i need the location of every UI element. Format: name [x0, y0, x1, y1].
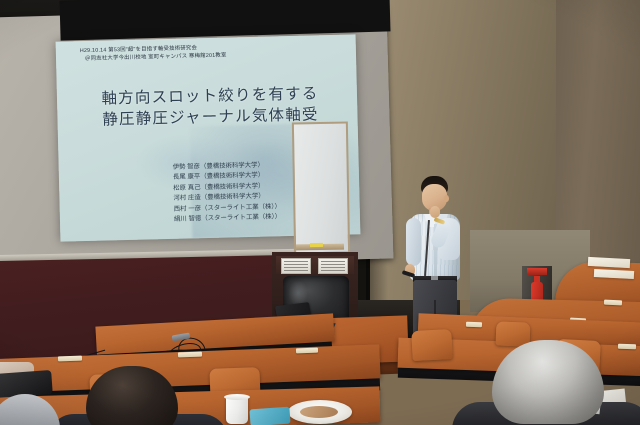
name-card: [178, 352, 202, 358]
blue-towel: [249, 407, 290, 425]
name-card: [58, 356, 82, 362]
presenter: [404, 176, 466, 336]
name-card: [604, 300, 622, 306]
chair: [411, 329, 453, 361]
presenter-ear: [444, 195, 449, 202]
paper-cup: [226, 396, 248, 424]
name-card: [296, 348, 318, 354]
av-label: [318, 258, 348, 274]
fire-extinguisher-sign: [527, 268, 547, 275]
slide-header: H29.10.14 第53回"超"を目指す軸受技術研究会 ＠同志社大学今出川校地…: [80, 41, 344, 64]
name-card: [618, 344, 636, 350]
paper-cup-rim: [224, 394, 250, 400]
presenter-arm-left: [406, 218, 421, 266]
plate-contents: [300, 406, 338, 418]
presenter-hand-right: [430, 206, 440, 218]
whiteboard: [292, 122, 350, 256]
lecture-hall-photo: H29.10.14 第53回"超"を目指す軸受技術研究会 ＠同志社大学今出川校地…: [0, 0, 640, 425]
whiteboard-marker: [310, 243, 323, 247]
av-label: [281, 258, 311, 274]
name-card: [466, 322, 482, 328]
